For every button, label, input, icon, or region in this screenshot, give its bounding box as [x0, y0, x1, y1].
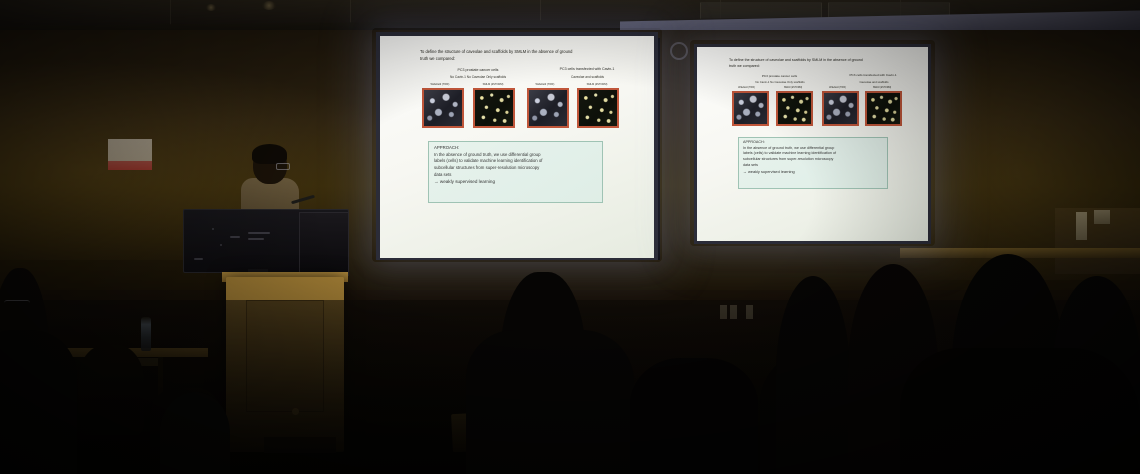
group-1-panel-1-label: Widefield (TIRF): [420, 83, 460, 86]
approach-box: APPROACH: In the absence of ground truth…: [738, 137, 888, 189]
presenter-glasses: [276, 163, 290, 170]
micrograph-smlm-cavin1: [577, 88, 619, 128]
group-2-heading: PC3 cells transfected with Cavin-1: [818, 73, 928, 77]
podium-second-monitor: [299, 212, 349, 276]
approach-line-1: In the absence of ground truth, we use d…: [434, 152, 597, 159]
group-1-subheading: No Cavin-1 No Caveolae Only scaffolds: [412, 75, 544, 79]
group-1-heading: PC3 prostate cancer cells: [418, 68, 538, 72]
group-1-subheading: No Cavin-1 No Caveolae Only scaffolds: [722, 80, 838, 84]
approach-line-4: data sets: [434, 172, 597, 179]
secondary-projection-screen: To define the structure of caveolae and …: [697, 47, 928, 241]
slide-content-secondary: To define the structure of caveolae and …: [697, 47, 928, 241]
group-2-subheading: Caveolae and scaffolds: [530, 75, 645, 79]
group-1-panel-1-label: Widefield (TIRF): [729, 87, 764, 89]
micrograph-widefield-pc3: [422, 88, 464, 128]
main-projection-screen: To define the structure of caveolae and …: [380, 36, 654, 258]
door-porthole-window: [670, 42, 688, 60]
hand-sanitizer-dispenser[interactable]: [1076, 212, 1087, 240]
presenter-hair: [252, 144, 287, 164]
group-1-heading: PC3 prostate cancer cells: [727, 74, 832, 78]
micrograph-widefield-pc3: [732, 91, 769, 126]
group-2-panel-1-label: Widefield (TIRF): [525, 83, 565, 86]
approach-line-5: → weakly supervised learning: [743, 169, 883, 175]
audience-row-shoulders: [900, 348, 1140, 474]
audience-member-shoulders: [0, 330, 77, 474]
approach-heading: APPROACH:: [434, 145, 597, 152]
ceiling-downlight: [262, 1, 276, 10]
ceiling-downlight: [206, 4, 216, 11]
approach-line-2: labels (cells) to validate machine learn…: [434, 158, 597, 165]
group-2-panel-2-label: SMLM (dSTORM): [574, 83, 620, 86]
audience-member: [776, 276, 850, 474]
slide-content: To define the structure of caveolae and …: [380, 36, 654, 258]
slide-title-line-1: To define the structure of caveolae and …: [420, 49, 625, 54]
micrograph-smlm-pc3: [473, 88, 515, 128]
lecture-hall-photo: To define the structure of caveolae and …: [0, 0, 1140, 474]
chair-back: [160, 392, 230, 474]
approach-line-3: subcellular structures from super-resolu…: [434, 165, 597, 172]
micrograph-widefield-cavin1: [527, 88, 569, 128]
group-1-panel-2-label: SMLM (dSTORM): [470, 83, 516, 86]
approach-line-5: → weakly supervised learning: [434, 178, 597, 185]
micrograph-smlm-cavin1: [865, 91, 902, 126]
group-2-panel-1-label: Widefield (TIRF): [820, 87, 855, 89]
wall-poster-banner: [108, 161, 152, 170]
chair-back: [630, 358, 758, 474]
group-2-subheading: Caveolae and scaffolds: [824, 80, 924, 84]
slide-title-line-1: To define the structure of caveolae and …: [729, 58, 909, 63]
eyeglasses-icon: [4, 300, 30, 307]
audience-member-shoulders: [466, 330, 634, 474]
micrograph-smlm-pc3: [776, 91, 813, 126]
micrograph-widefield-cavin1: [822, 91, 859, 126]
slide-title-line-2: truth we compared:: [420, 56, 625, 61]
paper-towel-dispenser[interactable]: [1094, 210, 1110, 224]
group-2-heading: PC3 cells transfected with Cavin-1: [523, 67, 651, 71]
group-1-panel-2-label: SMLM (dSTORM): [773, 87, 813, 89]
group-2-panel-2-label: SMLM (dSTORM): [862, 87, 902, 89]
slide-title-line-2: truth we compared:: [729, 64, 909, 69]
approach-box: APPROACH: In the absence of ground truth…: [428, 141, 603, 203]
